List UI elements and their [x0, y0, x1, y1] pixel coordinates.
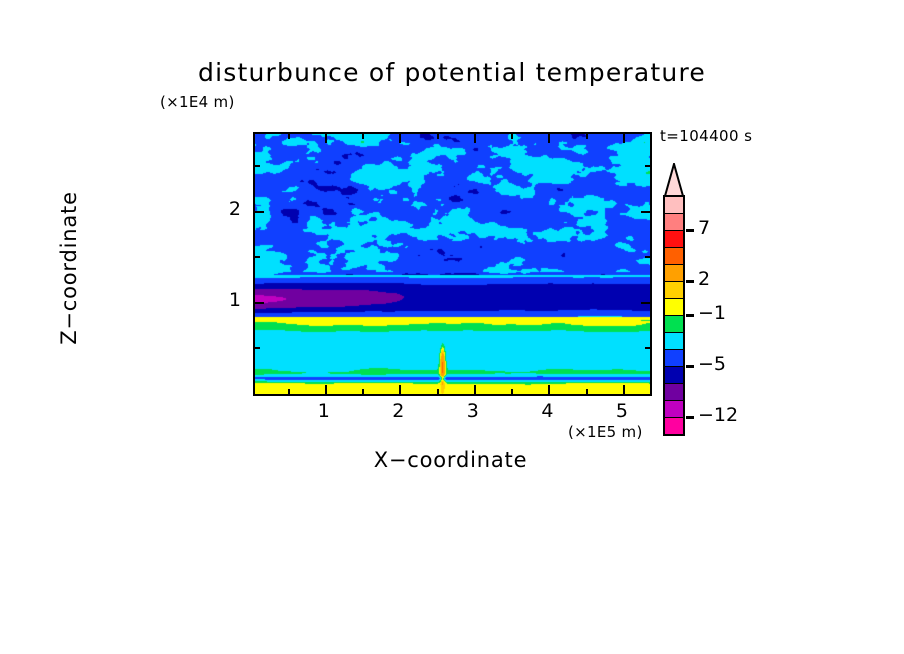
colorbar-band: [665, 282, 683, 299]
colorbar-band: [665, 367, 683, 384]
axis-tick: [288, 134, 290, 139]
colorbar-tick-label: 2: [698, 268, 710, 290]
colorbar-band: [665, 401, 683, 418]
axis-tick: [255, 256, 260, 258]
x-tick-label: 5: [602, 400, 642, 422]
colorbar-band: [665, 384, 683, 401]
x-tick-label: 4: [527, 400, 567, 422]
axis-tick: [645, 165, 650, 167]
colorbar-tick: [686, 229, 694, 232]
axis-tick: [255, 347, 260, 349]
colorbar-arrow-icon: [663, 163, 685, 197]
x-tick-label: 1: [304, 400, 344, 422]
x-axis-title: X−coordinate: [253, 448, 648, 472]
axis-tick: [255, 302, 264, 304]
colorbar-tick-label: −12: [698, 404, 738, 426]
axis-tick: [586, 389, 588, 394]
x-axis-unit-label: (×1E5 m): [568, 423, 643, 441]
axis-tick: [362, 389, 364, 394]
axis-tick: [325, 134, 327, 143]
colorbar-tick: [686, 416, 694, 419]
colorbar-tick: [686, 365, 694, 368]
colorbar-band: [665, 214, 683, 231]
axis-tick: [548, 134, 550, 143]
axis-tick: [623, 385, 625, 394]
colorbar-bands: [663, 195, 685, 436]
colorbar-tick: [686, 280, 694, 283]
axis-tick: [288, 389, 290, 394]
axis-tick: [362, 134, 364, 139]
axis-tick: [586, 134, 588, 139]
contour-plot-area: [253, 132, 652, 396]
colorbar-tick-label: −1: [698, 302, 726, 324]
axis-tick: [641, 211, 650, 213]
colorbar-band: [665, 231, 683, 248]
axis-tick: [325, 385, 327, 394]
y-tick-label: 2: [201, 198, 241, 220]
axis-tick: [474, 385, 476, 394]
axis-tick: [623, 134, 625, 143]
y-tick-label: 1: [201, 289, 241, 311]
colorbar-band: [665, 265, 683, 282]
axis-tick: [437, 389, 439, 394]
colorbar-band: [665, 248, 683, 265]
axis-tick: [255, 211, 264, 213]
timestamp-label: t=104400 s: [660, 127, 752, 145]
page-title: disturbunce of potential temperature: [0, 58, 904, 87]
colorbar-tick: [686, 314, 694, 317]
axis-tick: [641, 302, 650, 304]
axis-tick: [511, 134, 513, 139]
colorbar-band: [665, 333, 683, 350]
axis-tick: [645, 347, 650, 349]
axis-tick: [511, 389, 513, 394]
colorbar-tick-label: 7: [698, 217, 710, 239]
x-tick-label: 3: [453, 400, 493, 422]
axis-tick: [399, 134, 401, 143]
axis-tick: [548, 385, 550, 394]
axis-tick: [474, 134, 476, 143]
colorbar-band: [665, 299, 683, 316]
figure-canvas: disturbunce of potential temperature (×1…: [0, 0, 904, 654]
axis-tick: [437, 134, 439, 139]
colorbar-tick-label: −5: [698, 353, 726, 375]
y-axis-unit-label: (×1E4 m): [160, 93, 235, 111]
axis-tick: [255, 165, 260, 167]
colorbar-band: [665, 418, 683, 434]
colorbar-band: [665, 197, 683, 214]
axis-tick: [399, 385, 401, 394]
contour-field: [255, 134, 650, 394]
axis-tick: [645, 256, 650, 258]
y-axis-title: Z−coordinate: [57, 138, 81, 398]
colorbar-band: [665, 316, 683, 333]
x-tick-label: 2: [378, 400, 418, 422]
colorbar-band: [665, 350, 683, 367]
